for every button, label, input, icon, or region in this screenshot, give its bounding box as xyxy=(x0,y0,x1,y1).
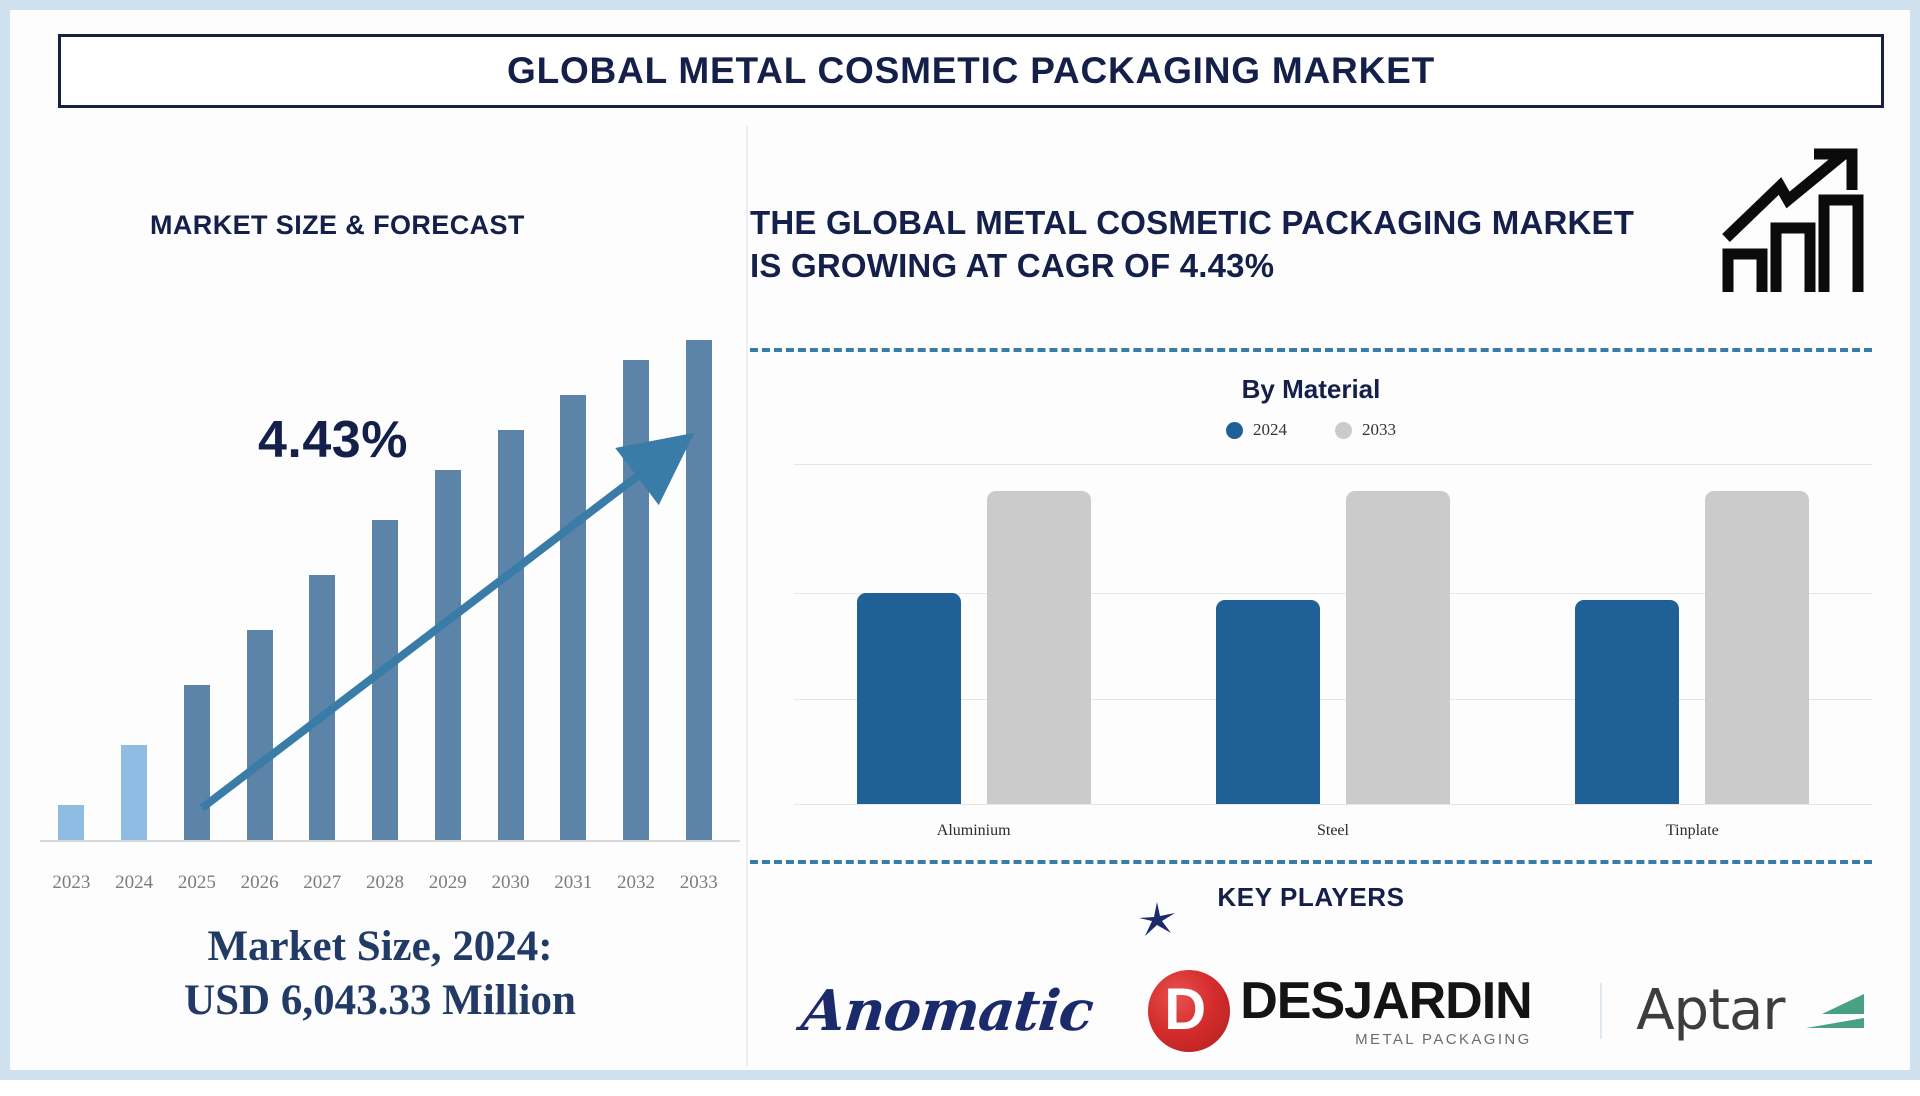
forecast-axis-line xyxy=(40,840,740,842)
logo-desjardin: D DESJARDIN METAL PACKAGING xyxy=(1143,926,1536,1096)
legend-label: 2024 xyxy=(1253,420,1287,440)
market-size-forecast-chart: 2023202420252026202720282029203020312032… xyxy=(30,290,730,970)
material-category-label: Tinplate xyxy=(1513,822,1872,840)
forecast-year-labels: 2023202420252026202720282029203020312032… xyxy=(40,872,730,894)
page-title: GLOBAL METAL COSMETIC PACKAGING MARKET xyxy=(507,50,1435,92)
key-players-title: KEY PLAYERS xyxy=(750,882,1872,913)
desjardin-wordmark: DESJARDIN xyxy=(1240,975,1532,1027)
forecast-bars xyxy=(40,340,730,840)
cagr-headline: THE GLOBAL METAL COSMETIC PACKAGING MARK… xyxy=(750,202,1650,288)
by-material-title: By Material xyxy=(750,374,1872,405)
material-bar-group xyxy=(794,464,1153,804)
divider-dashed-bottom xyxy=(750,860,1872,864)
forecast-bar xyxy=(58,805,84,840)
legend-dot-icon xyxy=(1226,422,1243,439)
forecast-bar xyxy=(435,470,461,840)
material-bar-2033 xyxy=(987,491,1091,804)
forecast-bar-slot xyxy=(228,340,291,840)
infographic-page: GLOBAL METAL COSMETIC PACKAGING MARKET M… xyxy=(0,0,1920,1080)
forecast-bar-slot xyxy=(291,340,354,840)
market-size-value-line1: Market Size, 2024: xyxy=(10,920,750,974)
anomatic-wordmark: Anomatic xyxy=(798,978,1095,1044)
material-bar-group xyxy=(1153,464,1512,804)
overview-panel: THE GLOBAL METAL COSMETIC PACKAGING MARK… xyxy=(750,120,1920,1080)
forecast-bar-slot xyxy=(479,340,542,840)
forecast-bar xyxy=(560,395,586,840)
infographic-canvas: GLOBAL METAL COSMETIC PACKAGING MARKET M… xyxy=(10,10,1910,1070)
key-players-logos: Anomatic D DESJARDIN METAL PACKAGING xyxy=(750,926,1920,1096)
material-bar-2033 xyxy=(1705,491,1809,804)
legend-dot-icon xyxy=(1335,422,1352,439)
forecast-year-label: 2033 xyxy=(667,872,730,894)
forecast-bar xyxy=(623,360,649,840)
desjardin-mark-letter: D xyxy=(1164,981,1206,1039)
forecast-bar-slot xyxy=(165,340,228,840)
forecast-year-label: 2027 xyxy=(291,872,354,894)
legend-item[interactable]: 2024 xyxy=(1226,420,1287,440)
forecast-bar xyxy=(121,745,147,840)
material-bar-group xyxy=(1513,464,1872,804)
legend-item[interactable]: 2033 xyxy=(1335,420,1396,440)
title-banner: GLOBAL METAL COSMETIC PACKAGING MARKET xyxy=(58,34,1884,108)
by-material-chart: AluminiumSteelTinplate xyxy=(794,464,1872,842)
logo-aptar: Aptar xyxy=(1537,926,1920,1096)
forecast-year-label: 2028 xyxy=(354,872,417,894)
forecast-bar-slot xyxy=(667,340,730,840)
forecast-year-label: 2026 xyxy=(228,872,291,894)
material-bar-2033 xyxy=(1346,491,1450,804)
forecast-year-label: 2032 xyxy=(605,872,668,894)
forecast-bar xyxy=(184,685,210,840)
forecast-bar xyxy=(309,575,335,840)
material-bar-2024 xyxy=(1575,600,1679,804)
forecast-bar-slot xyxy=(416,340,479,840)
legend-label: 2033 xyxy=(1362,420,1396,440)
forecast-bar-slot xyxy=(605,340,668,840)
desjardin-globe-icon: D xyxy=(1148,970,1230,1052)
forecast-year-label: 2029 xyxy=(416,872,479,894)
panel-divider xyxy=(746,126,748,1066)
forecast-year-label: 2024 xyxy=(103,872,166,894)
material-category-label: Steel xyxy=(1153,822,1512,840)
market-size-panel: MARKET SIZE & FORECAST 4.43% 20232024202… xyxy=(10,120,750,1080)
forecast-year-label: 2030 xyxy=(479,872,542,894)
growth-chart-icon xyxy=(1718,142,1878,302)
logo-anomatic: Anomatic xyxy=(750,926,1143,1096)
market-size-heading: MARKET SIZE & FORECAST xyxy=(150,210,525,241)
aptar-triangle-icon xyxy=(1800,992,1866,1030)
aptar-wordmark: Aptar xyxy=(1636,983,1784,1039)
forecast-bar xyxy=(686,340,712,840)
divider-dashed-top xyxy=(750,348,1872,352)
forecast-bar-slot xyxy=(354,340,417,840)
forecast-bar xyxy=(498,430,524,840)
material-bar-groups xyxy=(794,464,1872,804)
material-bar-2024 xyxy=(1216,600,1320,804)
forecast-year-label: 2023 xyxy=(40,872,103,894)
by-material-legend: 20242033 xyxy=(750,420,1872,440)
desjardin-tagline: METAL PACKAGING xyxy=(1355,1031,1532,1048)
material-category-label: Aluminium xyxy=(794,822,1153,840)
forecast-bar-slot xyxy=(40,340,103,840)
forecast-bar-slot xyxy=(103,340,166,840)
forecast-bar xyxy=(372,520,398,840)
forecast-year-label: 2031 xyxy=(542,872,605,894)
material-bar-2024 xyxy=(857,593,961,804)
forecast-bar-slot xyxy=(542,340,605,840)
material-category-labels: AluminiumSteelTinplate xyxy=(794,822,1872,840)
market-size-value: Market Size, 2024: USD 6,043.33 Million xyxy=(10,920,750,1028)
forecast-year-label: 2025 xyxy=(165,872,228,894)
forecast-bar xyxy=(247,630,273,840)
market-size-value-line2: USD 6,043.33 Million xyxy=(10,974,750,1028)
